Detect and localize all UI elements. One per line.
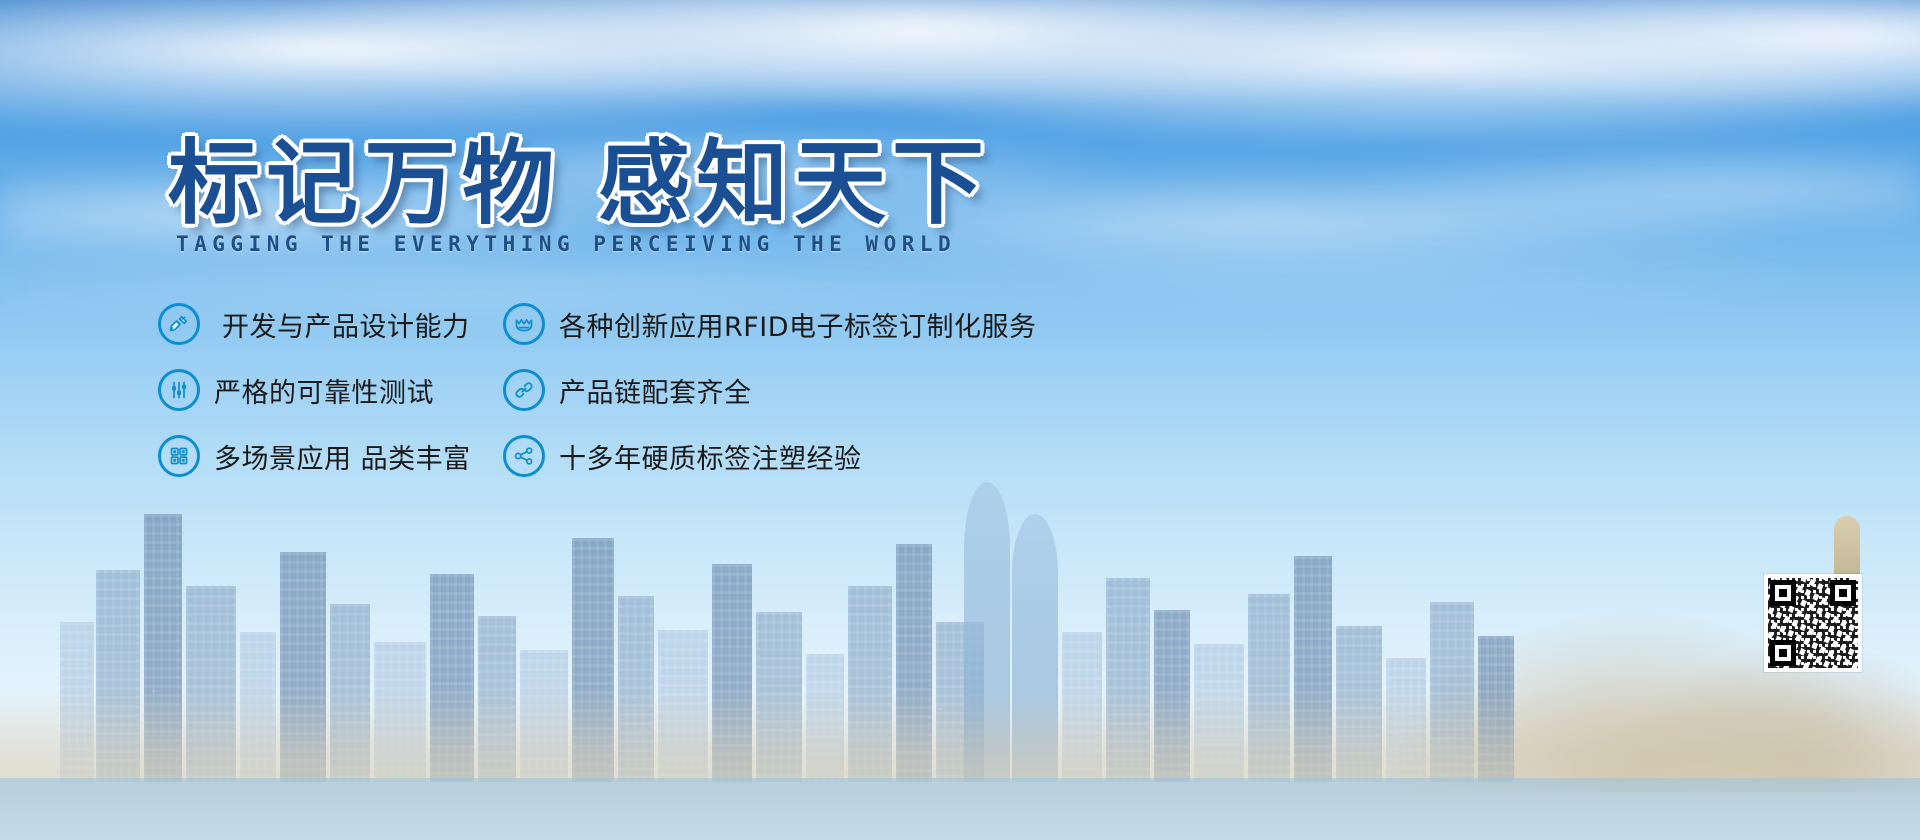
feature-label: 产品链配套齐全 — [559, 371, 752, 410]
feature-label: 严格的可靠性测试 — [214, 371, 434, 410]
feature-item-rfid-customization: 各种创新应用RFID电子标签订制化服务 — [503, 292, 1058, 356]
promo-banner: 标记万物 感知天下 TAGGING THE EVERYTHING PERCEIV… — [0, 0, 1920, 840]
link-icon — [503, 369, 545, 411]
feature-row: 开发与产品设计能力 — [158, 292, 1058, 358]
subheadline: TAGGING THE EVERYTHING PERCEIVING THE WO… — [176, 232, 956, 256]
feature-item-molding-experience: 十多年硬质标签注塑经验 — [503, 424, 1058, 488]
share-nodes-icon — [503, 435, 545, 477]
qr-finder-bottom-left — [1770, 640, 1796, 666]
sliders-icon — [158, 369, 200, 411]
banner-content: 标记万物 感知天下 TAGGING THE EVERYTHING PERCEIV… — [0, 0, 1920, 840]
feature-label: 各种创新应用RFID电子标签订制化服务 — [559, 305, 1037, 344]
feature-item-reliability-testing: 严格的可靠性测试 — [158, 358, 503, 422]
feature-item-product-chain: 产品链配套齐全 — [503, 358, 1058, 422]
feature-label: 十多年硬质标签注塑经验 — [559, 437, 862, 476]
feature-row: 多场景应用 品类丰富 — [158, 424, 1058, 490]
feature-label: 多场景应用 品类丰富 — [214, 437, 471, 476]
feature-item-design-capability: 开发与产品设计能力 — [158, 292, 503, 356]
feature-item-multi-scenario: 多场景应用 品类丰富 — [158, 424, 503, 488]
feature-list: 开发与产品设计能力 — [158, 292, 1058, 490]
qr-code[interactable] — [1764, 574, 1862, 672]
headline: 标记万物 感知天下 — [168, 138, 990, 230]
pencil-ruler-icon — [158, 303, 200, 345]
qr-finder-top-right — [1830, 580, 1856, 606]
crown-icon — [503, 303, 545, 345]
qr-finder-top-left — [1770, 580, 1796, 606]
grid-squares-icon — [158, 435, 200, 477]
feature-row: 严格的可靠性测试 — [158, 358, 1058, 424]
feature-label: 开发与产品设计能力 — [222, 305, 470, 344]
